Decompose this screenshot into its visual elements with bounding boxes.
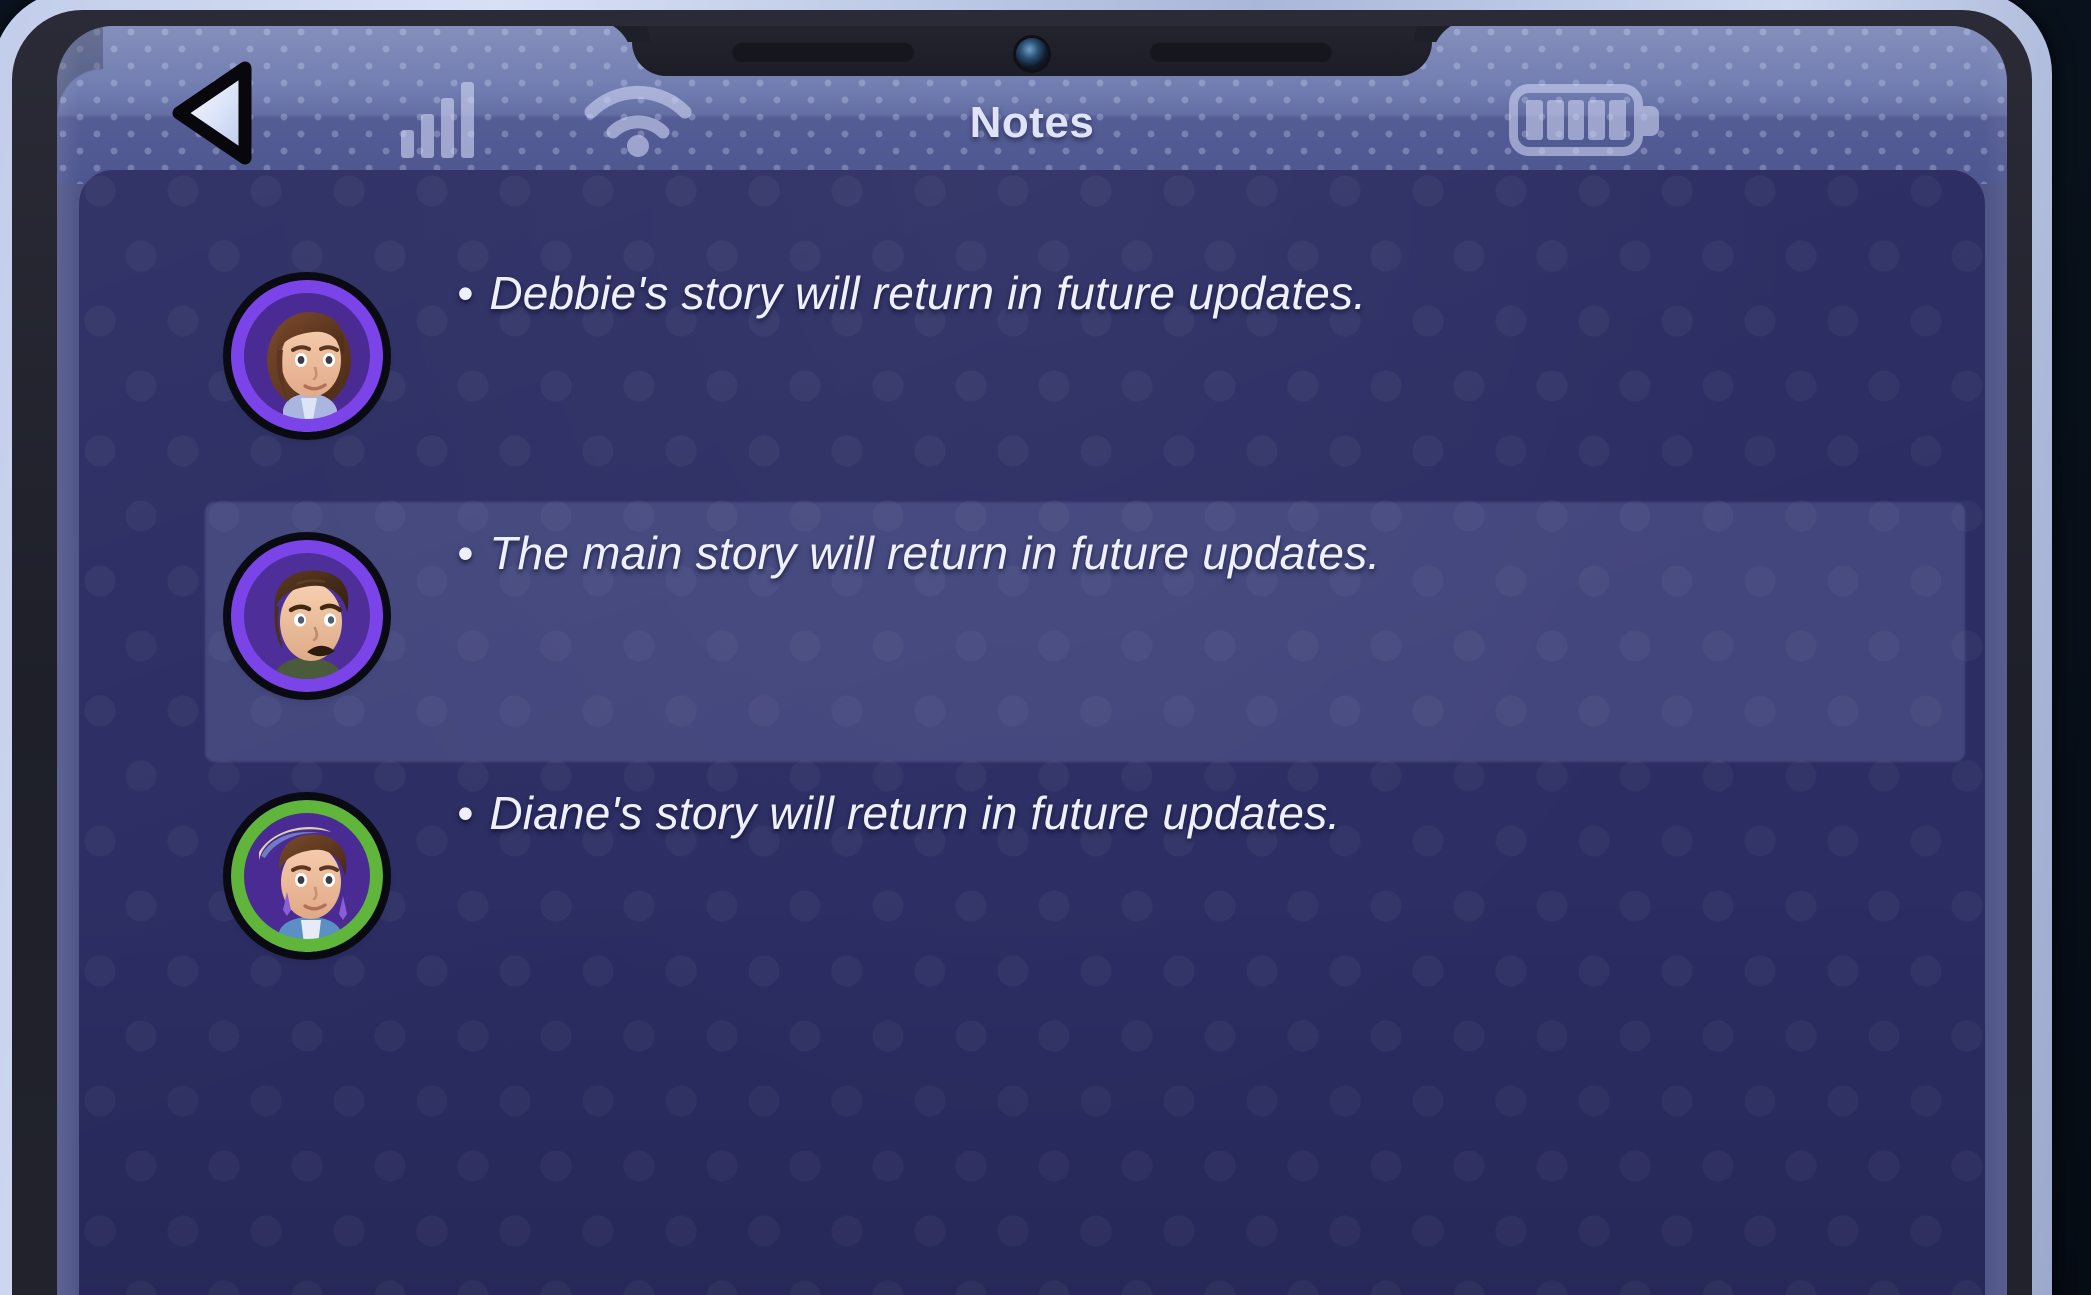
phone-bezel: Notes	[12, 10, 2032, 1295]
notes-list: •Debbie's story will return in future up…	[79, 170, 1985, 1295]
note-label: Debbie's story will return in future upd…	[489, 267, 1366, 319]
note-label: The main story will return in future upd…	[489, 527, 1380, 579]
speaker-grille-right	[1150, 42, 1332, 62]
avatar-debbie[interactable]	[231, 280, 383, 432]
notes-panel: •Debbie's story will return in future up…	[79, 170, 1985, 1295]
note-row[interactable]: •Diane's story will return in future upd…	[79, 762, 1985, 1022]
note-bullet: •	[457, 267, 473, 319]
phone-screen: Notes	[57, 26, 2007, 1295]
front-camera-icon	[1016, 38, 1048, 70]
battery-segment-3	[1568, 100, 1585, 140]
note-label: Diane's story will return in future upda…	[489, 787, 1340, 839]
phone-device-frame: Notes	[0, 0, 2052, 1295]
avatar-diane[interactable]	[231, 800, 383, 952]
note-bullet: •	[457, 527, 473, 579]
battery-body	[1509, 84, 1643, 156]
page-title: Notes	[57, 98, 2007, 148]
screen-inner-edge-left	[57, 26, 81, 1295]
note-text: •Debbie's story will return in future up…	[457, 266, 1366, 320]
battery-segment-1	[1526, 100, 1543, 140]
avatar-main-character[interactable]	[231, 540, 383, 692]
note-row[interactable]: •The main story will return in future up…	[79, 502, 1985, 762]
note-bullet: •	[457, 787, 473, 839]
battery-cap	[1643, 106, 1659, 136]
battery-segment-5	[1609, 100, 1626, 140]
battery-segment-4	[1588, 100, 1605, 140]
speaker-grille-left	[732, 42, 914, 62]
scene-background: Notes	[0, 0, 2091, 1295]
battery-icon	[1509, 84, 1661, 156]
screen-inner-edge-right	[1983, 26, 2007, 1295]
note-row[interactable]: •Debbie's story will return in future up…	[79, 242, 1985, 502]
note-text: •The main story will return in future up…	[457, 526, 1380, 580]
battery-segment-2	[1547, 100, 1564, 140]
phone-notch	[632, 26, 1432, 76]
note-text: •Diane's story will return in future upd…	[457, 786, 1340, 840]
